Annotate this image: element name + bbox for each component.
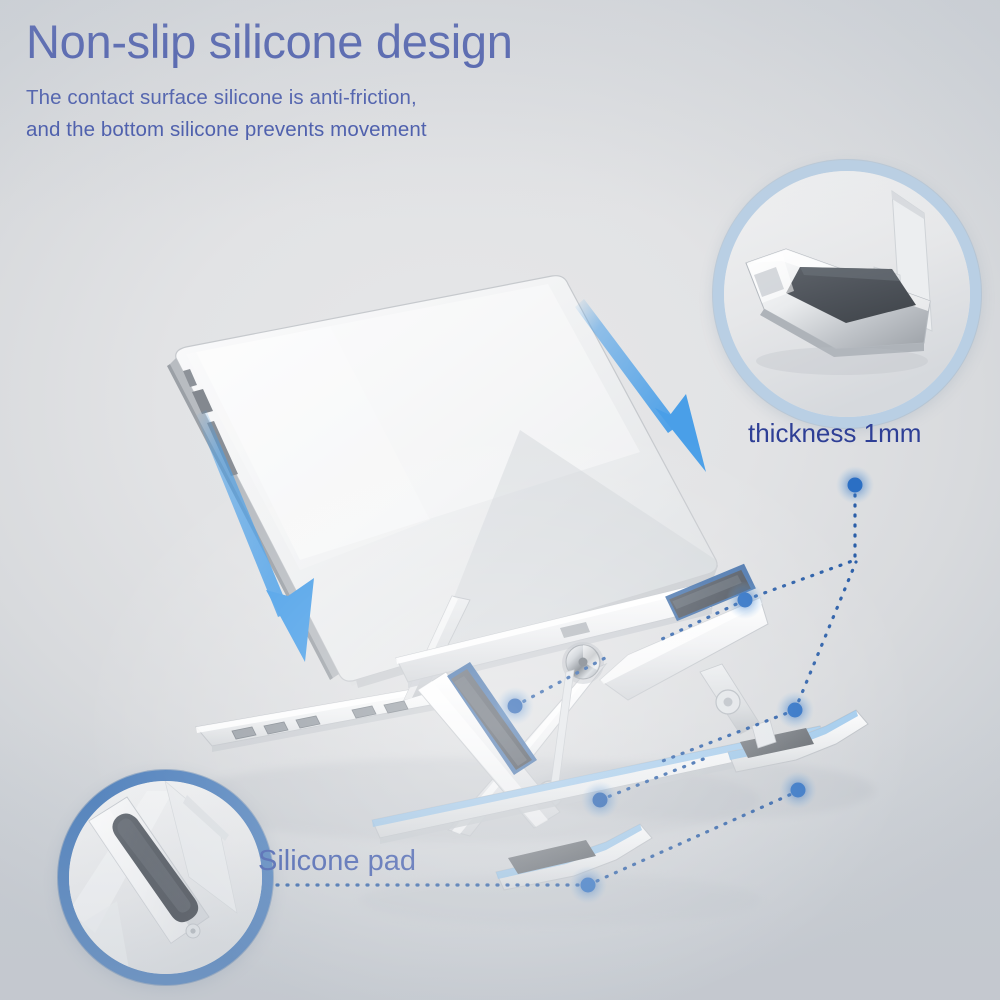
callout-label-thickness: thickness 1mm bbox=[748, 418, 921, 449]
hotspot-top-right[interactable] bbox=[836, 466, 874, 504]
product-image-canvas: Non-slip silicone design The contact sur… bbox=[0, 0, 1000, 1000]
leader-rightfoot-up bbox=[795, 562, 856, 710]
hotspot-center-left[interactable] bbox=[496, 687, 534, 725]
inset-silicone-pad-circle bbox=[58, 770, 273, 985]
stand-base-bar-rear bbox=[196, 688, 436, 752]
inset-silicone-art bbox=[69, 781, 262, 974]
page-title: Non-slip silicone design bbox=[26, 14, 513, 69]
inset-thickness-art bbox=[724, 171, 970, 417]
hotspot-lower-mid[interactable] bbox=[581, 781, 619, 819]
callout-label-silicone-pad: Silicone pad bbox=[258, 845, 416, 878]
hotspot-front-foot[interactable] bbox=[569, 866, 607, 904]
subtitle-line-1: The contact surface silicone is anti-fri… bbox=[26, 86, 417, 110]
hotspot-right-foot[interactable] bbox=[776, 691, 814, 729]
inset-thickness-circle bbox=[713, 160, 981, 428]
leader-top-to-arm bbox=[745, 485, 855, 600]
subtitle-line-2: and the bottom silicone prevents movemen… bbox=[26, 118, 427, 142]
hotspot-upper-arm[interactable] bbox=[726, 581, 764, 619]
stand-leg-right bbox=[700, 664, 760, 734]
hotspot-right-lower[interactable] bbox=[779, 771, 817, 809]
